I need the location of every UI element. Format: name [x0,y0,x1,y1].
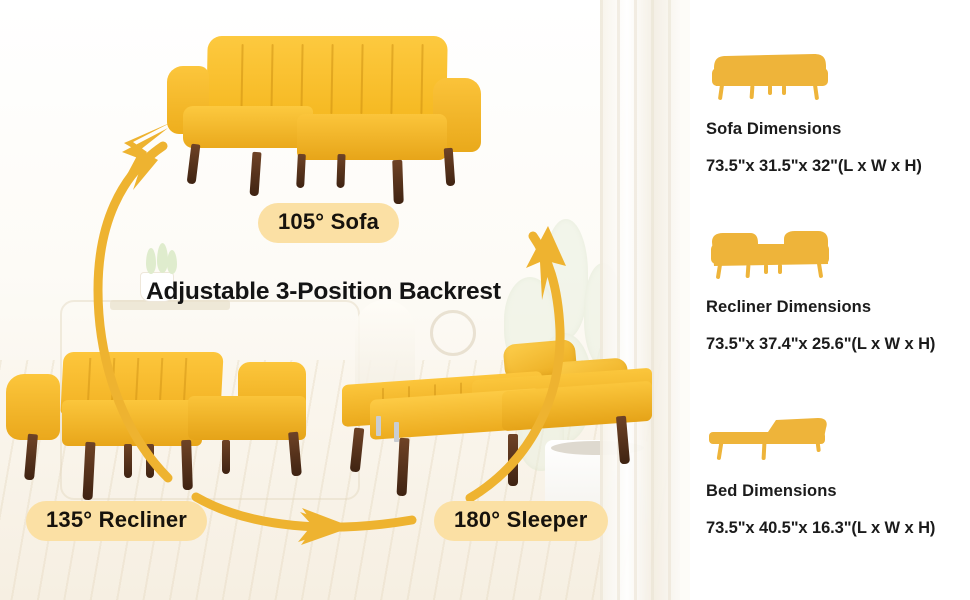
recliner-arm-left [6,374,60,440]
sleeper-leg [396,438,409,496]
small-plant-leaf [167,250,177,274]
sleeper-leg [616,416,630,465]
bed-silhouette-icon [706,408,836,466]
dimension-block-bed: Bed Dimensions 73.5"x 40.5"x 16.3"(L x W… [690,408,970,538]
badge-position-recliner[interactable]: 135° Recliner [26,501,207,541]
dimension-title: Bed Dimensions [706,482,970,501]
room-scene: Adjustable 3-Position Backrest 105° Sofa… [0,0,680,600]
dimension-title: Recliner Dimensions [706,298,970,317]
small-plant-leaf [157,243,168,273]
dimension-value: 73.5"x 40.5"x 16.3"(L x W x H) [706,519,970,538]
recliner-seat-left [62,400,202,446]
sofa-leg [249,152,261,197]
dimensions-panel: Sofa Dimensions 73.5"x 31.5"x 32"(L x W … [690,0,970,600]
sleeper-leg [508,434,518,486]
sofa-leg [392,160,404,204]
recliner-leg [24,434,38,481]
sofa-seat-right [297,114,447,160]
sofa-leg [187,144,201,185]
dimension-block-sofa: Sofa Dimensions 73.5"x 31.5"x 32"(L x W … [690,46,970,176]
sofa-leg [296,154,306,188]
dimension-value: 73.5"x 37.4"x 25.6"(L x W x H) [706,335,970,354]
small-plant-leaf [146,248,156,274]
sofa-silhouette-icon [706,46,836,104]
dimension-block-recliner: Recliner Dimensions 73.5"x 37.4"x 25.6"(… [690,224,970,354]
sofa-leg [336,154,345,188]
page-title: Adjustable 3-Position Backrest [146,278,501,306]
recliner-leg [181,440,193,490]
dimension-value: 73.5"x 31.5"x 32"(L x W x H) [706,157,970,176]
recliner-leg [124,444,132,478]
curtain [600,0,680,600]
sofa-photo [145,22,500,202]
dimension-title: Sofa Dimensions [706,120,970,139]
sofa-leg [444,148,456,187]
recliner-silhouette-icon [706,224,836,282]
recliner-photo [0,348,330,508]
sleeper-photo [332,338,650,508]
sleeper-hinge [376,416,381,436]
badge-position-sleeper[interactable]: 180° Sleeper [434,501,608,541]
recliner-leg [222,440,230,474]
recliner-leg [82,442,95,500]
sleeper-hinge [394,422,399,442]
badge-position-sofa[interactable]: 105° Sofa [258,203,399,243]
sleeper-leg [350,428,365,473]
recliner-leg [146,444,154,478]
sofa-seat-left [183,106,313,148]
infographic-root: Adjustable 3-Position Backrest 105° Sofa… [0,0,970,600]
